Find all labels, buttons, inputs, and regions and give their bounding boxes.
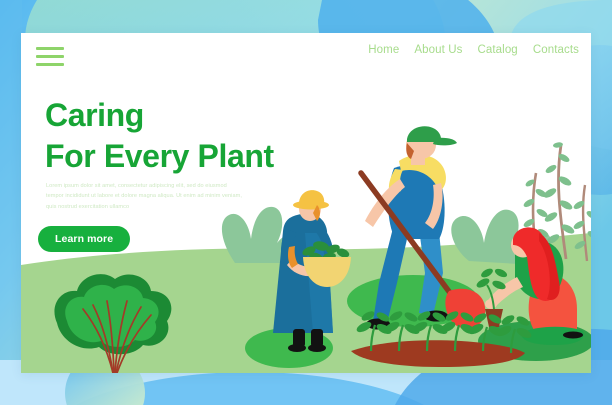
nav-link-contacts[interactable]: Contacts — [533, 44, 579, 56]
hamburger-menu-icon[interactable] — [36, 47, 64, 66]
headline-line-1: Caring — [45, 97, 144, 133]
hero-card: Home About Us Catalog Contacts Caring Fo… — [21, 33, 591, 373]
hamburger-bar-2 — [36, 55, 64, 58]
nav-link-catalog[interactable]: Catalog — [477, 44, 517, 56]
nav-links: Home About Us Catalog Contacts — [368, 44, 579, 56]
nav-link-home[interactable]: Home — [368, 44, 399, 56]
hamburger-bar-3 — [36, 63, 64, 66]
learn-more-button[interactable]: Learn more — [38, 226, 130, 252]
top-navigation: Home About Us Catalog Contacts — [21, 33, 591, 79]
nav-link-about-us[interactable]: About Us — [414, 44, 462, 56]
page-title: Caring For Every Plant — [45, 95, 274, 177]
screenshot-stage: Home About Us Catalog Contacts Caring Fo… — [0, 0, 612, 405]
hero-paragraph: Lorem ipsum dolor sit amet, consectetur … — [46, 181, 242, 212]
headline-line-2: For Every Plant — [45, 136, 274, 177]
hamburger-bar-1 — [36, 47, 64, 50]
